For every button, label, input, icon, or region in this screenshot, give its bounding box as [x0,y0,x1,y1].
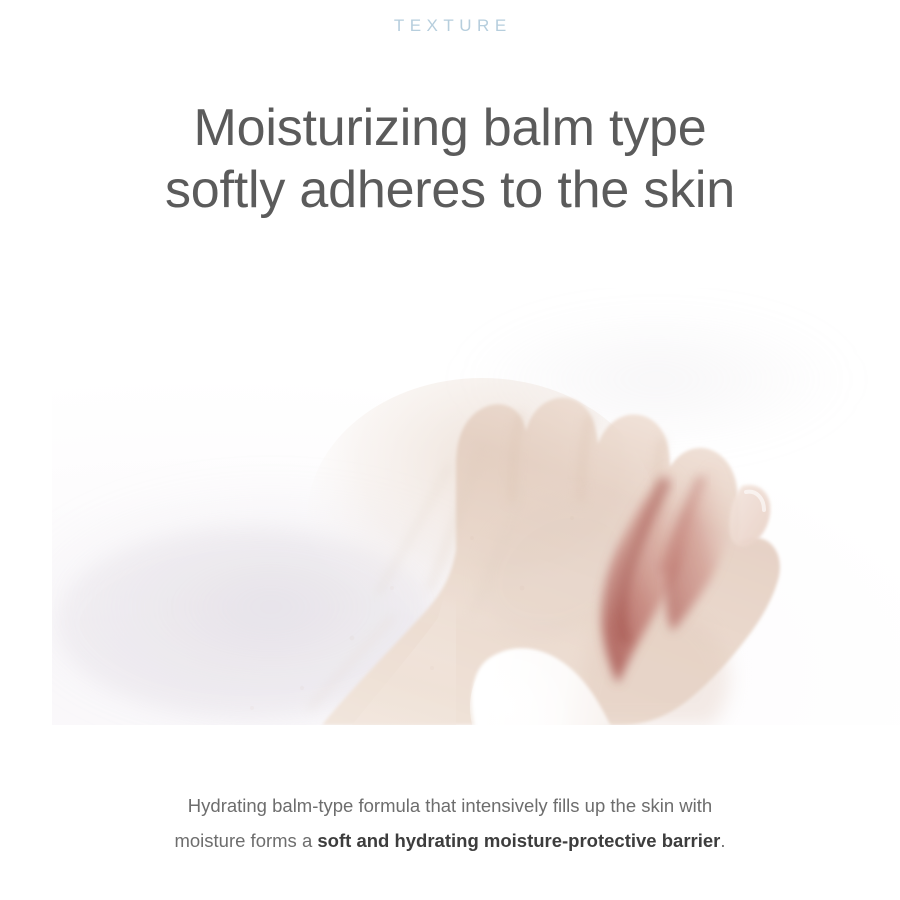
section-eyebrow-label: TEXTURE [0,16,900,36]
texture-section-page: TEXTURE Moisturizing balm type softly ad… [0,0,900,900]
page-title: Moisturizing balm type softly adheres to… [0,97,900,221]
page-title-line-2: softly adheres to the skin [0,159,900,221]
texture-photo [52,288,900,725]
caption-line-2: moisture forms a soft and hydrating mois… [0,823,900,858]
caption-line-2-prefix: moisture forms a [174,830,317,851]
caption-line-2-suffix: . [720,830,725,851]
hand-with-balm-illustration [52,288,900,725]
caption-line-2-emphasis: soft and hydrating moisture-protective b… [317,830,720,851]
texture-caption: Hydrating balm-type formula that intensi… [0,788,900,858]
page-title-line-1: Moisturizing balm type [0,97,900,159]
caption-line-1: Hydrating balm-type formula that intensi… [0,788,900,823]
